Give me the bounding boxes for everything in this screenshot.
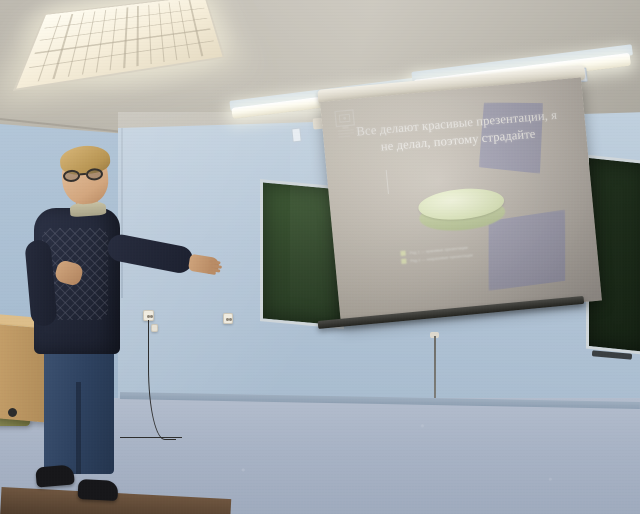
classroom-scene: Все делают красивые презентации, я не де… — [0, 0, 640, 514]
presenter — [0, 0, 640, 514]
glasses-lens-left — [63, 169, 81, 182]
presenter-hand-right — [188, 254, 220, 275]
presenter-shoe-right — [78, 479, 119, 501]
finger — [207, 271, 216, 276]
presenter-shoe-left — [35, 464, 75, 487]
glasses-lens-right — [86, 168, 104, 181]
presenter-leg-separation — [76, 382, 81, 474]
